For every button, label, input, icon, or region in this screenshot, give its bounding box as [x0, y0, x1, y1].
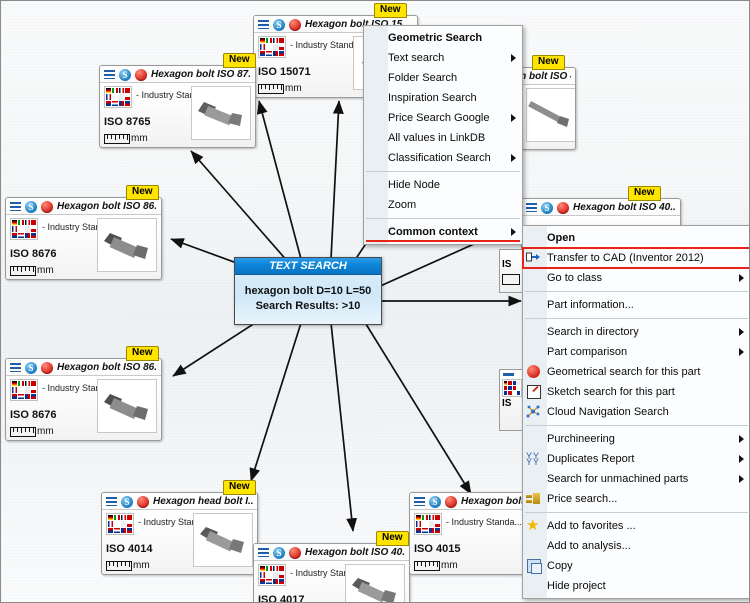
menu-item-label: Part comparison: [545, 342, 627, 362]
context-menu-common-context[interactable]: Open Transfer to CAD (Inventor 2012) Go …: [522, 225, 750, 599]
menu-item-add-to-favorites[interactable]: ★ Add to favorites ...: [523, 516, 750, 536]
menu-icon-blank: [364, 30, 386, 46]
cloud-navigation-icon: [523, 404, 545, 420]
menu-item-all-values-linkdb[interactable]: All values in LinkDB: [364, 128, 522, 148]
menu-item-label: Inspiration Search: [386, 88, 477, 108]
menu-item-label: Cloud Navigation Search: [545, 402, 669, 422]
part-thumbnail: [97, 218, 157, 272]
submenu-arrow-icon: [739, 435, 744, 443]
menu-icon-blank: [364, 70, 386, 86]
menu-icon-blank: [364, 224, 386, 240]
menu-item-geometric-search[interactable]: Geometric Search: [364, 28, 522, 48]
menu-item-label: Geometrical search for this part: [545, 362, 700, 382]
menu-item-label: Copy: [545, 556, 573, 576]
dollar-icon[interactable]: S: [429, 496, 441, 508]
menu-icon-blank: [364, 90, 386, 106]
country-flags-icon: [104, 86, 132, 108]
dollar-icon[interactable]: S: [25, 201, 37, 213]
menu-icon-blank: [523, 471, 545, 487]
node-card-iso8676-b[interactable]: S Hexagon bolt ISO 86...: [5, 358, 162, 441]
node-header[interactable]: S Hexagon bolt ISO 87...: [100, 66, 255, 83]
menu-item-zoom[interactable]: Zoom: [364, 195, 522, 215]
unit-label: mm: [37, 265, 54, 277]
menu-icon-blank: [523, 297, 545, 313]
badge-new: New: [628, 186, 661, 201]
node-card-iso4017[interactable]: S Hexagon bolt ISO 40...: [253, 543, 410, 603]
menu-item-go-to-class[interactable]: Go to class: [523, 268, 750, 288]
ruler-icon: [502, 274, 520, 285]
menu-item-part-comparison[interactable]: Part comparison: [523, 342, 750, 362]
menu-item-label: Hide project: [545, 576, 606, 596]
menu-item-label: Price Search Google: [386, 108, 490, 128]
node-card-sliver-upper[interactable]: IS: [499, 249, 524, 293]
menu-item-label: Part information...: [545, 295, 634, 315]
menu-icon-blank: [523, 538, 545, 554]
menu-item-label: Price search...: [545, 489, 617, 509]
submenu-arrow-icon: [511, 114, 516, 122]
node-header[interactable]: S Hexagon bolt ISO 86...: [6, 198, 161, 215]
red-sphere-icon[interactable]: [41, 362, 53, 374]
node-body: - Industry Standa... ISO 8765 mm: [100, 83, 255, 148]
node-body: [522, 216, 680, 223]
dollar-icon[interactable]: S: [25, 362, 37, 374]
menu-item-label: All values in LinkDB: [386, 128, 485, 148]
menu-item-label: Folder Search: [386, 68, 457, 88]
menu-item-label: Hide Node: [386, 175, 440, 195]
badge-new: New: [374, 3, 407, 18]
menu-separator: [366, 218, 520, 219]
menu-separator: [366, 171, 520, 172]
text-search-node[interactable]: TEXT SEARCH hexagon bolt D=10 L=50 Searc…: [234, 257, 382, 325]
hamburger-icon[interactable]: [258, 548, 269, 557]
red-sphere-icon[interactable]: [137, 496, 149, 508]
ruler-icon: [104, 134, 130, 144]
node-body: - Industry Standa... ISO 8676 mm: [6, 215, 161, 280]
context-menu-geometric-search[interactable]: Geometric Search Text search Folder Sear…: [363, 25, 523, 245]
country-flags-icon: [258, 36, 286, 58]
country-flags-icon: [502, 379, 522, 397]
menu-item-search-unmachined-parts[interactable]: Search for unmachined parts: [523, 469, 750, 489]
menu-item-price-search[interactable]: Price search...: [523, 489, 750, 509]
menu-icon-blank: [364, 197, 386, 213]
menu-item-label: Common context: [386, 222, 478, 242]
unit-label: mm: [37, 426, 54, 438]
search-query: hexagon bolt D=10 L=50: [239, 284, 377, 299]
node-body: - Industry Standa... ISO 4017 mm: [254, 561, 409, 603]
node-header[interactable]: S Hexagon bolt ISO 40...: [522, 199, 680, 216]
node-title: Hexagon head bolt I...: [153, 495, 253, 508]
hamburger-icon[interactable]: [414, 497, 425, 506]
graph-canvas[interactable]: New S Hexagon bolt ISO 15...: [0, 0, 750, 603]
node-card-iso41-top[interactable]: Hexagon bolt ISO 41...: [521, 67, 576, 150]
menu-item-transfer-to-cad[interactable]: Transfer to CAD (Inventor 2012): [523, 248, 750, 268]
menu-item-hide-node[interactable]: Hide Node: [364, 175, 522, 195]
hamburger-icon[interactable]: [10, 202, 21, 211]
red-sphere-icon[interactable]: [289, 19, 301, 31]
node-title: Hexagon bolt I: [461, 495, 530, 508]
menu-item-duplicates-report[interactable]: YYYY Duplicates Report: [523, 449, 750, 469]
menu-item-sketch-search-for-part[interactable]: Sketch search for this part: [523, 382, 750, 402]
badge-new: New: [532, 55, 565, 70]
node-title: Hexagon bolt ISO 87...: [151, 68, 251, 81]
menu-icon-blank: [364, 130, 386, 146]
badge-new: New: [376, 531, 409, 546]
menu-item-open[interactable]: Open: [523, 228, 750, 248]
part-thumbnail: [345, 564, 405, 603]
menu-item-cloud-navigation-search[interactable]: Cloud Navigation Search: [523, 402, 750, 422]
submenu-arrow-icon: [739, 475, 744, 483]
node-card-sliver-lower[interactable]: IS: [499, 369, 524, 431]
standard-label: - Industry Standa...: [446, 513, 522, 528]
menu-item-geometrical-search-for-part[interactable]: Geometrical search for this part: [523, 362, 750, 382]
menu-item-label: Purchineering: [545, 429, 615, 449]
country-flags-icon: [10, 218, 38, 240]
text-search-body: hexagon bolt D=10 L=50 Search Results: >…: [235, 275, 381, 324]
dollar-icon[interactable]: S: [541, 202, 553, 214]
node-title: Hexagon bolt ISO 41...: [522, 70, 571, 83]
node-title: Hexagon bolt ISO 86...: [57, 361, 157, 374]
menu-item-copy[interactable]: Copy: [523, 556, 750, 576]
menu-separator: [525, 425, 748, 426]
menu-separator: [525, 291, 748, 292]
menu-item-price-search-google[interactable]: Price Search Google: [364, 108, 522, 128]
menu-item-hide-project[interactable]: Hide project: [523, 576, 750, 596]
submenu-arrow-icon: [511, 54, 516, 62]
menu-item-inspiration-search[interactable]: Inspiration Search: [364, 88, 522, 108]
menu-icon-blank: [523, 578, 545, 594]
node-header[interactable]: S Hexagon bolt ISO 86...: [6, 359, 161, 376]
red-sphere-icon[interactable]: [289, 547, 301, 559]
sketch-icon: [523, 384, 545, 400]
red-sphere-icon[interactable]: [41, 201, 53, 213]
menu-item-label: Text search: [386, 48, 444, 68]
menu-item-label: Add to favorites ...: [545, 516, 636, 536]
hamburger-icon[interactable]: [258, 20, 269, 29]
menu-icon-blank: [364, 177, 386, 193]
badge-new: New: [126, 346, 159, 361]
red-sphere-icon: [523, 364, 545, 380]
menu-item-label: Transfer to CAD (Inventor 2012): [545, 248, 704, 268]
node-card-iso4014[interactable]: S Hexagon head bolt I...: [101, 492, 258, 575]
menu-item-label: Geometric Search: [386, 28, 482, 48]
sliver-iso-text: IS: [500, 397, 524, 411]
menu-item-label: Open: [545, 228, 575, 248]
menu-icon-blank: [364, 110, 386, 126]
ruler-icon: [10, 427, 36, 437]
menu-icon-blank: [364, 150, 386, 166]
copy-icon: [523, 558, 545, 574]
node-title: Hexagon bolt ISO 86...: [57, 200, 157, 213]
hamburger-icon[interactable]: [10, 363, 21, 372]
node-header[interactable]: Hexagon bolt ISO 41...: [522, 68, 575, 85]
country-flags-icon: [258, 564, 286, 586]
sliver-iso-text: IS: [500, 250, 524, 272]
menu-item-label: Sketch search for this part: [545, 382, 675, 402]
country-flags-icon: [10, 379, 38, 401]
unit-label: mm: [441, 560, 458, 572]
dollar-icon[interactable]: S: [273, 547, 285, 559]
unit-label: mm: [131, 133, 148, 145]
coins-icon: [523, 491, 545, 507]
star-icon: ★: [523, 518, 545, 534]
submenu-arrow-icon: [739, 274, 744, 282]
node-header[interactable]: S Hexagon bolt ISO 40...: [254, 544, 409, 561]
dollar-icon[interactable]: S: [121, 496, 133, 508]
submenu-arrow-icon: [739, 348, 744, 356]
node-card-iso8765[interactable]: S Hexagon bolt ISO 87...: [99, 65, 256, 148]
menu-item-label: Classification Search: [386, 148, 491, 168]
red-sphere-icon[interactable]: [557, 202, 569, 214]
ruler-icon: [10, 266, 36, 276]
menu-item-classification-search[interactable]: Classification Search: [364, 148, 522, 168]
search-results-count: Search Results: >10: [239, 299, 377, 314]
country-flags-icon: [414, 513, 442, 535]
part-thumbnail: [97, 379, 157, 433]
submenu-arrow-icon: [511, 228, 516, 236]
menu-item-label: Go to class: [545, 268, 602, 288]
transfer-to-cad-icon: [523, 250, 545, 266]
hamburger-icon[interactable]: [526, 203, 537, 212]
part-thumbnail: [191, 86, 251, 140]
menu-item-label: Search in directory: [545, 322, 639, 342]
menu-separator: [525, 318, 748, 319]
node-body: - Industry Standa... ISO 8676 mm: [6, 376, 161, 441]
node-title: Hexagon bolt ISO 40...: [305, 546, 405, 559]
node-body: - Industry Standa... ISO 4014 mm: [102, 510, 257, 575]
submenu-arrow-icon: [739, 455, 744, 463]
menu-item-part-information[interactable]: Part information...: [523, 295, 750, 315]
menu-icon-blank: [523, 230, 545, 246]
node-body: [522, 85, 575, 92]
node-card-iso8676-a[interactable]: S Hexagon bolt ISO 86...: [5, 197, 162, 280]
ruler-icon: [258, 84, 284, 94]
menu-icon-blank: [523, 270, 545, 286]
country-flags-icon: [106, 513, 134, 535]
node-header[interactable]: S Hexagon head bolt I...: [102, 493, 257, 510]
menu-item-folder-search[interactable]: Folder Search: [364, 68, 522, 88]
badge-new: New: [223, 53, 256, 68]
menu-item-purchineering[interactable]: Purchineering: [523, 429, 750, 449]
menu-item-label: Zoom: [386, 195, 416, 215]
submenu-arrow-icon: [511, 154, 516, 162]
menu-item-label: Add to analysis...: [545, 536, 631, 556]
menu-item-label: Search for unmachined parts: [545, 469, 688, 489]
text-search-header: TEXT SEARCH: [235, 258, 381, 275]
menu-item-label: Duplicates Report: [545, 449, 634, 469]
menu-icon-blank: [364, 50, 386, 66]
badge-new: New: [223, 480, 256, 495]
badge-new: New: [126, 185, 159, 200]
hamburger-icon[interactable]: [106, 497, 117, 506]
ruler-icon: [106, 561, 132, 571]
submenu-arrow-icon: [739, 328, 744, 336]
dollar-icon[interactable]: S: [119, 69, 131, 81]
menu-item-common-context[interactable]: Common context: [364, 222, 522, 242]
dollar-icon[interactable]: S: [273, 19, 285, 31]
menu-separator: [525, 512, 748, 513]
duplicates-icon: YYYY: [523, 451, 545, 467]
part-thumbnail: [193, 513, 253, 567]
menu-item-search-in-directory[interactable]: Search in directory: [523, 322, 750, 342]
menu-icon-blank: [523, 431, 545, 447]
unit-label: mm: [285, 83, 302, 95]
menu-icon-blank: [523, 344, 545, 360]
menu-item-text-search[interactable]: Text search: [364, 48, 522, 68]
unit-label: mm: [133, 560, 150, 572]
hamburger-icon[interactable]: [503, 373, 514, 376]
red-sphere-icon[interactable]: [135, 69, 147, 81]
hamburger-icon[interactable]: [104, 70, 115, 79]
menu-item-add-to-analysis[interactable]: Add to analysis...: [523, 536, 750, 556]
menu-icon-blank: [523, 324, 545, 340]
node-title: Hexagon bolt ISO 40...: [573, 201, 676, 214]
ruler-icon: [414, 561, 440, 571]
part-thumbnail: [526, 88, 576, 142]
red-sphere-icon[interactable]: [445, 496, 457, 508]
